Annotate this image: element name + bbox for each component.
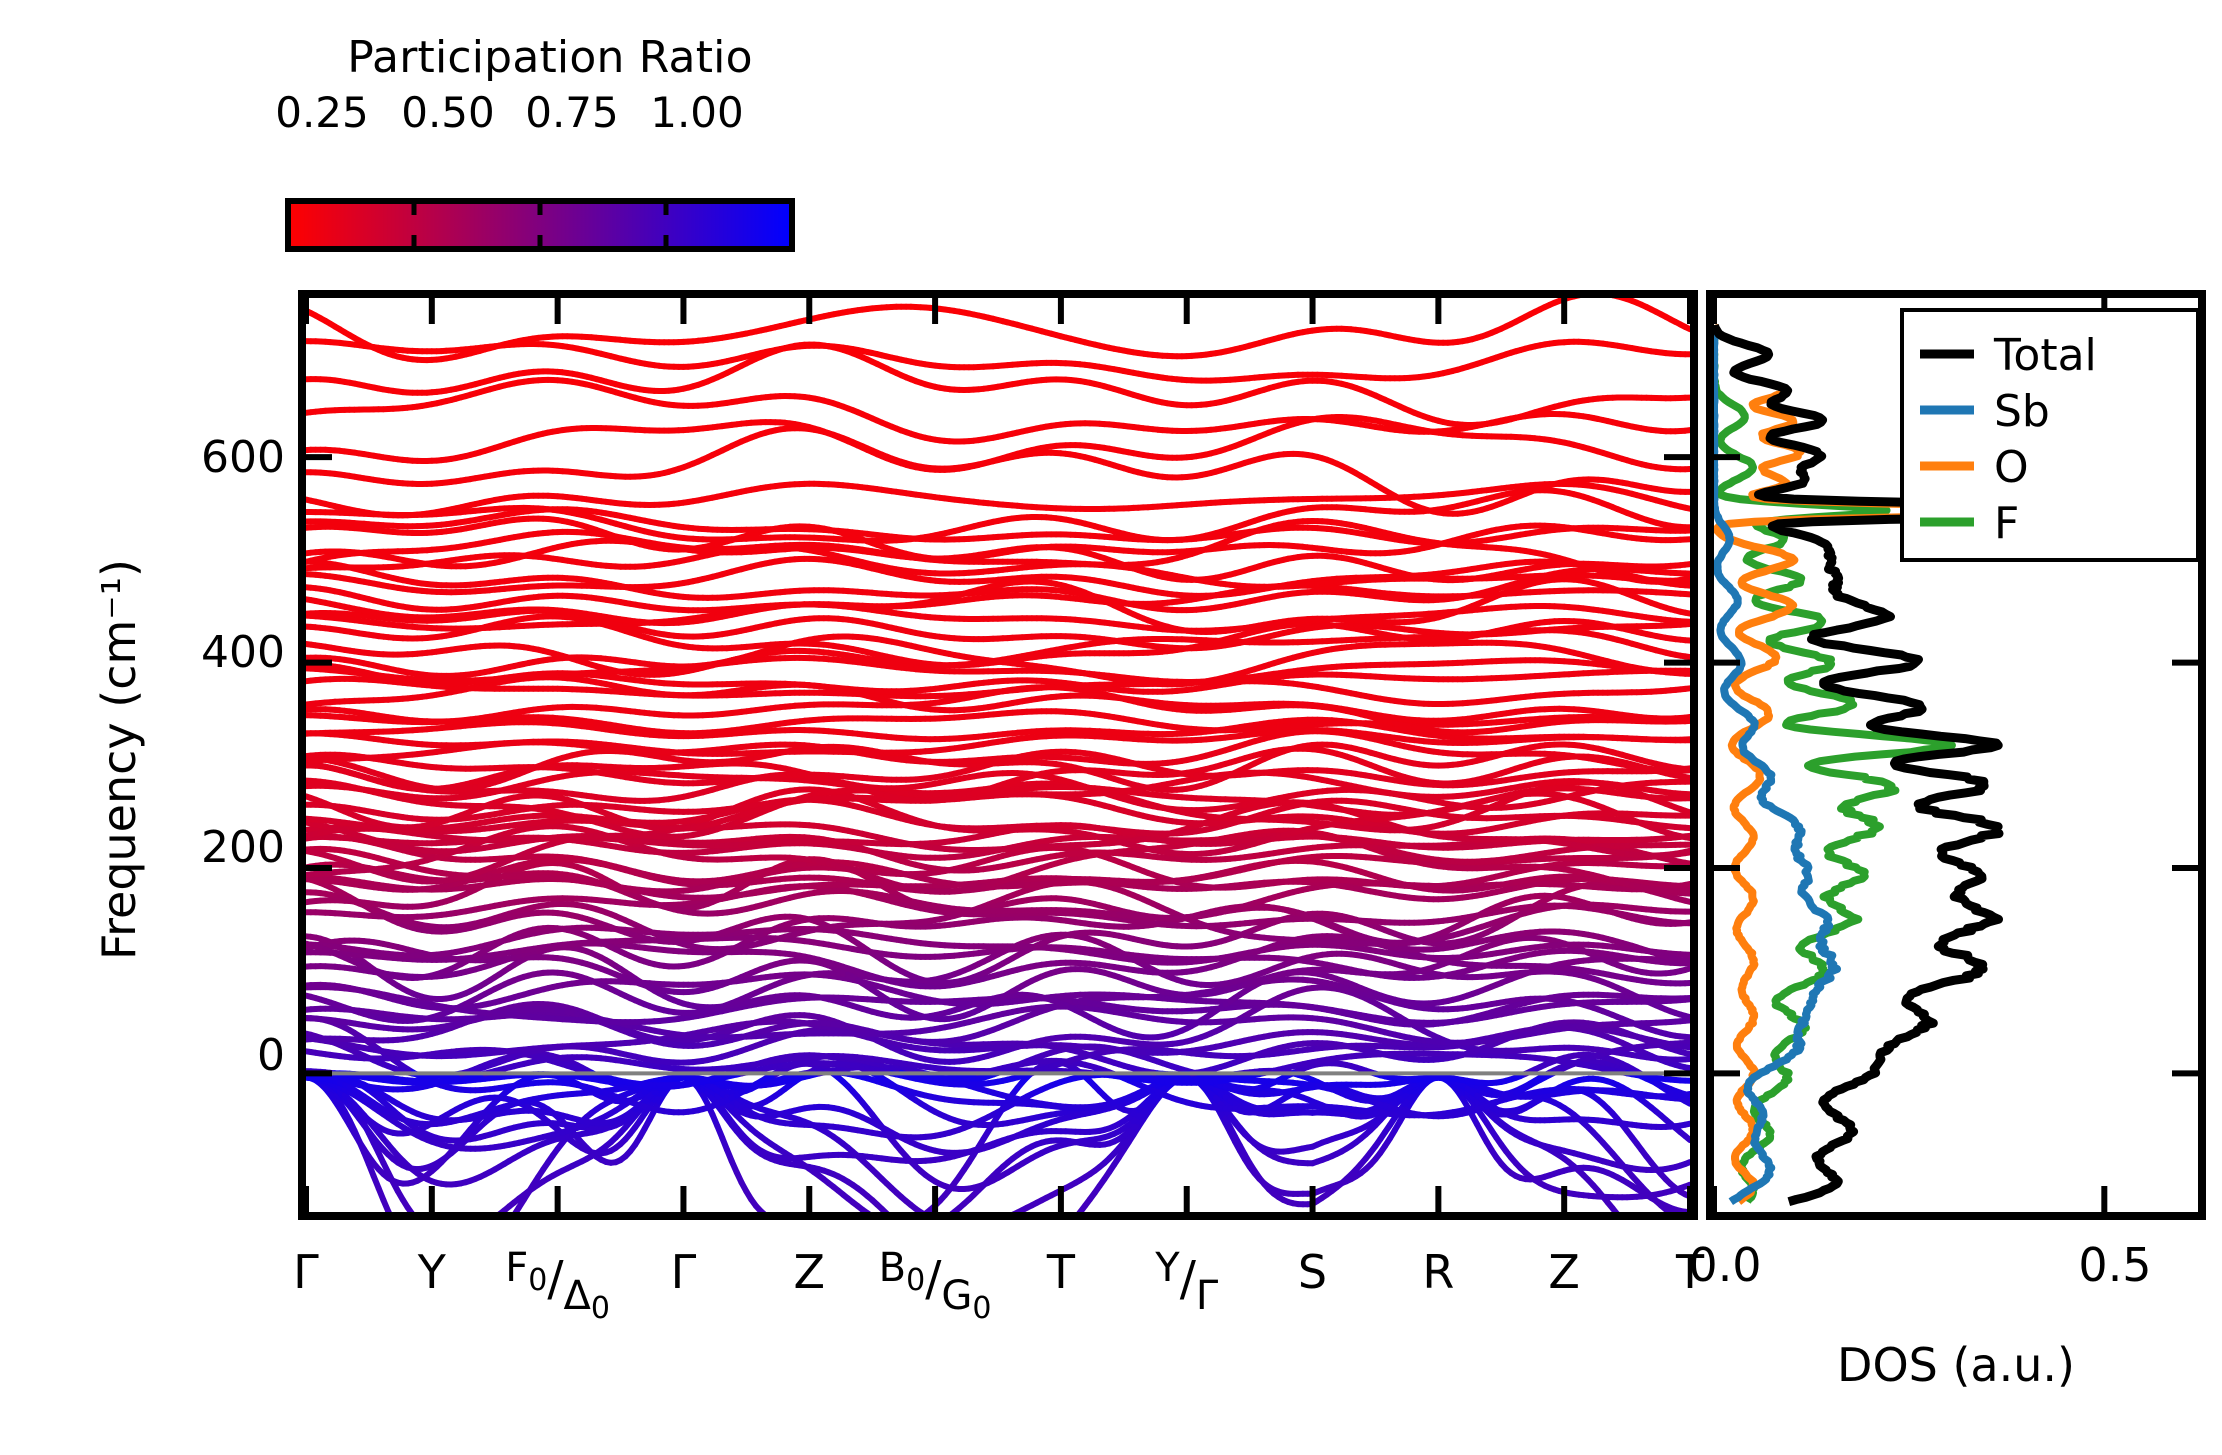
y-tick-0: 0	[140, 1030, 285, 1081]
dos-tick-0: 0.0	[1645, 1238, 1805, 1292]
y-tick-200: 200	[140, 822, 285, 873]
colorbar-tick-1: 0.50	[388, 88, 508, 137]
dos-legend[interactable]: TotalSbOF	[1902, 310, 2198, 560]
legend-label-o: O	[1994, 442, 2029, 493]
y-tick-400: 400	[140, 627, 285, 678]
dos-x-axis-label: DOS (a.u.)	[1726, 1338, 2186, 1392]
colorbar-title: Participation Ratio	[300, 32, 800, 83]
legend-label-f: F	[1994, 498, 2019, 549]
legend-label-total: Total	[1993, 330, 2097, 381]
legend-label-sb: Sb	[1994, 386, 2050, 437]
band-structure-plot	[298, 290, 1698, 1220]
y-axis-label: Frequency (cm⁻¹)	[92, 559, 146, 960]
band-curves	[306, 294, 1690, 1220]
dos-plot: TotalSbOF	[1706, 290, 2206, 1220]
phonon-figure: Participation Ratio 0.25 0.50 0.75 1.00 …	[0, 0, 2222, 1455]
colorbar-tick-3: 1.00	[637, 88, 757, 137]
colorbar	[285, 198, 845, 268]
colorbar-tick-2: 0.75	[512, 88, 632, 137]
colorbar-tick-0: 0.25	[262, 88, 382, 137]
y-tick-600: 600	[140, 432, 285, 483]
dos-tick-1: 0.5	[2035, 1238, 2195, 1292]
